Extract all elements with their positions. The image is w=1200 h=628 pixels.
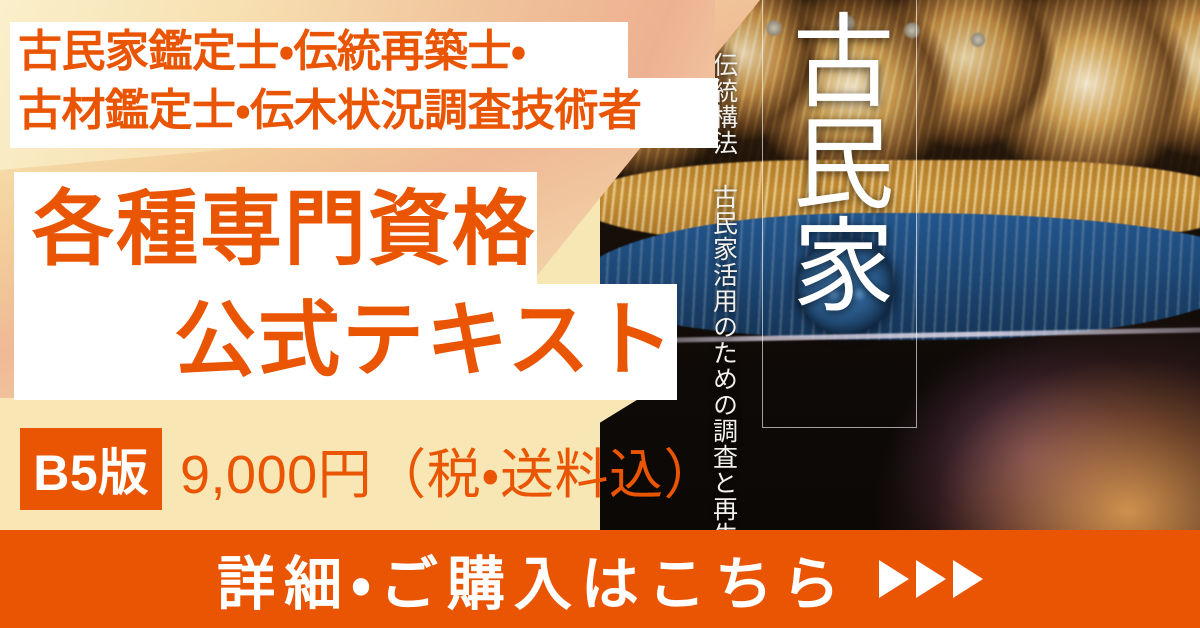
play-arrow-icon [953,560,983,598]
main-title-line-1: 各種専門資格 [14,176,679,284]
qualifications-headline: 古民家鑑定士・伝統再築士・ 古材鑑定士・伝木状況調査技術者 [18,24,718,142]
play-arrow-icon [916,560,946,598]
book-size-badge: B5版 [20,428,162,510]
book-cover-title: 古民家 [784,8,896,314]
headline-line-1: 古民家鑑定士・伝統再築士・ [18,24,718,80]
promo-banner: 古民家 伝統構法 古民家活用のための調査と再生の 古民家鑑定士・伝統再築士・ 古… [0,0,1200,628]
cta-label: 詳細・ご購入はこちら [217,537,849,621]
play-arrow-icon [879,560,909,598]
cta-button-bar[interactable]: 詳細・ご購入はこちら [0,530,1200,628]
price-text: 9,000円（税・送料込） [180,430,718,509]
main-title: 各種専門資格 公式テキスト [14,176,679,398]
price-row: B5版 9,000円（税・送料込） [20,428,718,510]
main-title-line-2: 公式テキスト [14,284,679,398]
headline-line-2: 古材鑑定士・伝木状況調査技術者 [18,80,718,142]
cta-arrows [879,560,983,598]
